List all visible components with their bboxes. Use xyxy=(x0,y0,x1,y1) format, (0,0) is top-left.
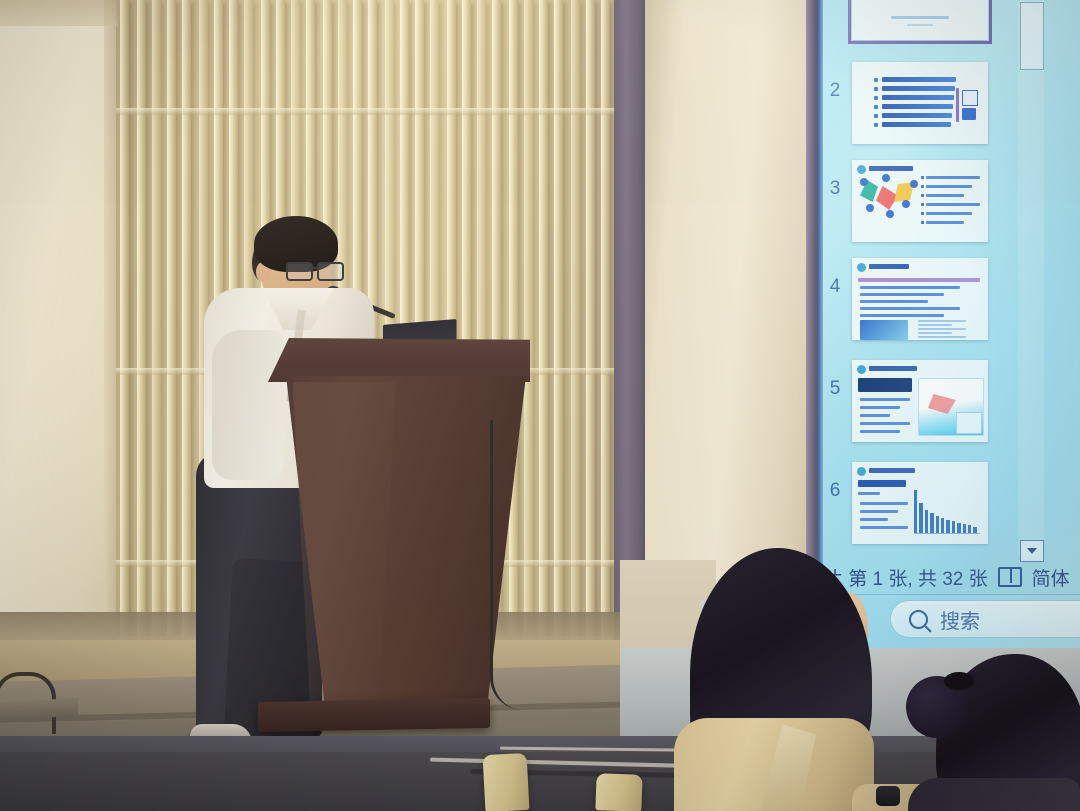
contents-bar xyxy=(882,77,956,82)
presenter-arm xyxy=(212,330,284,480)
body-text-line xyxy=(860,286,960,289)
chart-axis xyxy=(914,533,980,534)
diagram-bullet xyxy=(926,212,972,215)
slide-thumbnail-5[interactable]: 5 xyxy=(818,360,1032,442)
diagram-node-1 xyxy=(866,204,874,212)
contents-bar xyxy=(882,86,955,91)
microphone-cable xyxy=(490,420,523,710)
wall-slat xyxy=(554,0,563,690)
bullet-marker xyxy=(874,87,878,91)
diagram-bullet xyxy=(926,221,964,224)
slide-counter-label: 片 第 1 张, 共 32 张 xyxy=(824,564,988,591)
chart-bar xyxy=(919,503,922,534)
slide-footer-date xyxy=(907,24,933,26)
diagram-node-0 xyxy=(860,178,868,186)
slide-thumbnail-4[interactable]: 4 xyxy=(818,258,1032,340)
slide-image xyxy=(860,320,908,340)
slide-footer-text xyxy=(891,16,949,19)
scrollbar-thumb[interactable] xyxy=(1020,2,1044,70)
glasses-lens-left xyxy=(286,262,313,281)
slide-thumbnail-6[interactable]: 6 xyxy=(818,462,1032,544)
body-text-line xyxy=(860,293,944,296)
slide-header-icon xyxy=(857,365,866,374)
body-text-line xyxy=(860,414,890,417)
diagram-bullet xyxy=(926,203,980,206)
slide-header-text xyxy=(869,166,913,171)
diagram-node-2 xyxy=(882,174,890,182)
podium-base xyxy=(258,698,490,732)
sub-heading xyxy=(858,492,880,495)
diagram-node-4 xyxy=(902,200,910,208)
side-caption-line xyxy=(918,328,966,330)
slide-number-label: 4 xyxy=(818,258,852,298)
status-bar: 片 第 1 张, 共 32 张 简体 xyxy=(818,560,1080,594)
diagram-bullet xyxy=(926,185,972,188)
body-text-line xyxy=(860,406,900,409)
section-heading xyxy=(858,480,906,487)
body-text-line xyxy=(860,518,888,521)
bullet-marker xyxy=(921,203,924,206)
projection-screen: 123456 片 第 1 张, 共 32 张 简体 搜索 xyxy=(818,0,1080,648)
map-inset xyxy=(956,412,982,434)
slide-header-text xyxy=(869,264,909,269)
search-placeholder: 搜索 xyxy=(940,605,980,634)
chevron-down-icon xyxy=(1027,548,1037,554)
side-caption-line xyxy=(918,324,952,326)
wall-slat xyxy=(601,0,610,690)
slide-thumbnail-list[interactable]: 123456 xyxy=(818,0,1032,560)
wall-slat xyxy=(167,0,176,690)
body-text-line xyxy=(860,314,944,317)
body-text-line xyxy=(860,502,908,505)
diagram-node-3 xyxy=(886,210,894,218)
scrollbar-track[interactable] xyxy=(1018,0,1044,556)
wall-slat xyxy=(571,0,580,690)
thumbnail-bar-chart xyxy=(914,488,980,534)
wall-slat xyxy=(182,0,191,690)
slide-thumbnail-canvas[interactable] xyxy=(852,0,988,40)
language-label[interactable]: 简体 xyxy=(1032,564,1070,591)
side-caption-line xyxy=(918,332,952,334)
slide-header-text xyxy=(869,366,917,371)
diagram-shape-red xyxy=(876,186,898,210)
bullet-marker xyxy=(921,221,924,224)
chart-bar xyxy=(914,490,917,534)
conference-room-screenshot: 123456 片 第 1 张, 共 32 张 简体 搜索 xyxy=(0,0,1080,811)
contents-bar xyxy=(882,113,952,118)
bullet-marker xyxy=(874,105,878,109)
chart-bar xyxy=(941,518,944,534)
contents-divider xyxy=(956,88,959,122)
slide-header-icon xyxy=(857,165,866,174)
slide-thumbnail-1[interactable]: 1 xyxy=(818,0,1032,40)
hair-tie xyxy=(944,672,974,690)
contents-bar xyxy=(882,95,954,100)
search-box[interactable]: 搜索 xyxy=(890,600,1080,638)
slide-number-label: 3 xyxy=(818,160,852,200)
body-text-line xyxy=(860,430,900,433)
side-caption-line xyxy=(918,320,966,322)
body-text-line xyxy=(860,300,928,303)
side-caption-line xyxy=(918,336,966,338)
chart-bar xyxy=(925,510,928,534)
body-text-line xyxy=(860,422,910,425)
body-text-line xyxy=(860,398,910,401)
body-text-line xyxy=(860,307,960,310)
slide-thumbnail-2[interactable]: 2 xyxy=(818,62,1032,144)
smartwatch xyxy=(876,786,900,806)
podium-top-surface xyxy=(268,338,530,382)
wall-slat xyxy=(137,0,146,690)
slide-thumbnail-canvas[interactable] xyxy=(852,462,988,544)
upper-wall-shadow xyxy=(0,0,118,26)
diagram-bullet xyxy=(926,176,980,179)
slide-thumbnail-canvas[interactable] xyxy=(852,258,988,340)
callout-box xyxy=(858,378,912,392)
bullet-marker xyxy=(874,78,878,82)
chair-back-right xyxy=(595,773,642,811)
bullet-marker xyxy=(921,194,924,197)
slide-header-icon xyxy=(857,263,866,272)
bullet-marker xyxy=(921,185,924,188)
presenter-glasses xyxy=(286,262,340,278)
scroll-down-button[interactable] xyxy=(1020,540,1044,562)
status-bar-divider xyxy=(818,594,1080,595)
bullet-marker xyxy=(874,96,878,100)
search-icon xyxy=(909,610,928,629)
slide-header-icon xyxy=(857,467,866,476)
wall-slat-rail xyxy=(116,108,622,115)
attendee-right-shoulder xyxy=(908,778,1080,811)
slide-number-label: 2 xyxy=(818,62,852,102)
slide-number-label: 6 xyxy=(818,462,852,502)
contents-bar xyxy=(882,104,953,109)
bullet-marker xyxy=(874,123,878,127)
wall-slat xyxy=(152,0,161,690)
bullet-marker xyxy=(921,176,924,179)
contents-bar xyxy=(882,122,951,127)
left-wall xyxy=(0,0,112,700)
chair-back-left xyxy=(483,753,530,811)
body-text-line xyxy=(860,526,908,529)
slide-thumbnail-canvas[interactable] xyxy=(852,62,988,144)
contents-icon-2 xyxy=(962,108,976,120)
diagram-node-5 xyxy=(910,180,918,188)
chart-bar xyxy=(936,516,939,534)
contents-icon-1 xyxy=(962,90,978,106)
body-text-line xyxy=(860,510,898,513)
slide-thumbnail-canvas[interactable] xyxy=(852,360,988,442)
slide-thumbnail-canvas[interactable] xyxy=(852,160,988,242)
glasses-lens-right xyxy=(317,262,344,281)
slide-number-label: 5 xyxy=(818,360,852,400)
screen-left-border xyxy=(818,0,823,648)
bullet-marker xyxy=(921,212,924,215)
slide-header-text xyxy=(869,468,915,473)
chart-bar xyxy=(930,513,933,534)
slide-thumbnail-3[interactable]: 3 xyxy=(818,160,1032,242)
book-proofing-icon[interactable] xyxy=(998,567,1022,587)
wall-slat xyxy=(539,0,548,690)
chart-bar xyxy=(946,520,949,534)
diagram-bullet xyxy=(926,194,964,197)
wall-slat xyxy=(120,0,129,690)
bullet-marker xyxy=(874,114,878,118)
slide-accent-line xyxy=(858,278,980,282)
glasses-bridge xyxy=(309,267,317,269)
wall-slat xyxy=(586,0,595,690)
